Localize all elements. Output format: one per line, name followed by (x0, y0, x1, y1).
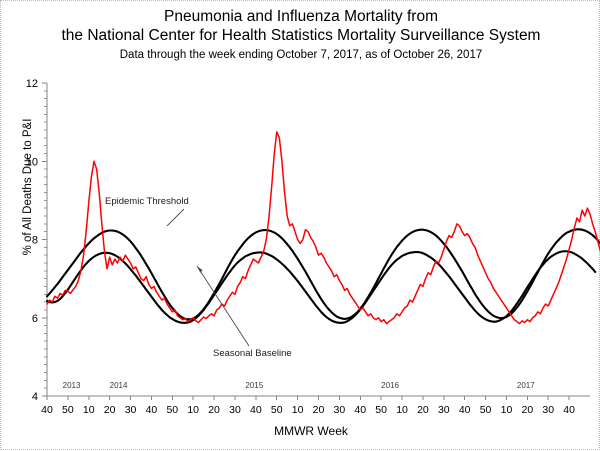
y-tick-label: 12 (26, 78, 38, 90)
x-tick-label: 40 (146, 404, 158, 416)
x-tick-label: 10 (501, 404, 513, 416)
x-tick-label: 50 (271, 404, 283, 416)
x-tick-label: 20 (208, 404, 220, 416)
epidemic-threshold-curve (47, 229, 600, 319)
x-tick-label: 40 (563, 404, 575, 416)
x-tick-label: 40 (354, 404, 366, 416)
epidemic-threshold-leader (167, 209, 184, 226)
year-label: 2014 (110, 381, 128, 390)
x-tick-label: 10 (83, 404, 95, 416)
chart-frame: Pneumonia and Influenza Mortality from t… (0, 0, 600, 450)
x-tick-label: 10 (187, 404, 199, 416)
y-tick-label: 10 (26, 156, 38, 168)
x-tick-label: 20 (104, 404, 116, 416)
x-tick-label: 40 (459, 404, 471, 416)
year-label: 2013 (63, 381, 81, 390)
x-tick-label: 50 (480, 404, 492, 416)
x-tick-label: 10 (396, 404, 408, 416)
x-tick-label: 20 (417, 404, 429, 416)
x-tick-label: 30 (438, 404, 450, 416)
x-tick-label: 20 (522, 404, 534, 416)
x-tick-label: 30 (125, 404, 137, 416)
x-tick-label: 50 (166, 404, 178, 416)
year-label: 2017 (517, 381, 535, 390)
year-labels: 20132014201520162017 (63, 381, 536, 390)
x-tick-label: 30 (334, 404, 346, 416)
chart-plot-area: 4681012 40501020304050102030405010203040… (1, 1, 600, 451)
x-tick-label: 40 (41, 404, 53, 416)
y-tick-label: 8 (32, 235, 38, 247)
y-tick-label: 4 (32, 391, 38, 403)
x-tick-label: 10 (292, 404, 304, 416)
x-axis-title: MMWR Week (274, 424, 349, 438)
year-label: 2015 (245, 381, 263, 390)
x-tick-label: 50 (62, 404, 74, 416)
epidemic-threshold-label: Epidemic Threshold (105, 196, 189, 207)
x-tick-label: 30 (542, 404, 554, 416)
y-axis-ticks: 4681012 (26, 78, 47, 403)
seasonal-baseline-arrowhead (197, 266, 203, 273)
x-tick-label: 30 (229, 404, 241, 416)
x-tick-label: 50 (375, 404, 387, 416)
x-tick-label: 20 (313, 404, 325, 416)
year-label: 2016 (381, 381, 399, 390)
x-axis-ticks: 4050102030405010203040501020304050102030… (41, 396, 575, 416)
seasonal-baseline-label: Seasonal Baseline (213, 348, 292, 359)
y-tick-label: 6 (32, 313, 38, 325)
x-tick-label: 40 (250, 404, 262, 416)
